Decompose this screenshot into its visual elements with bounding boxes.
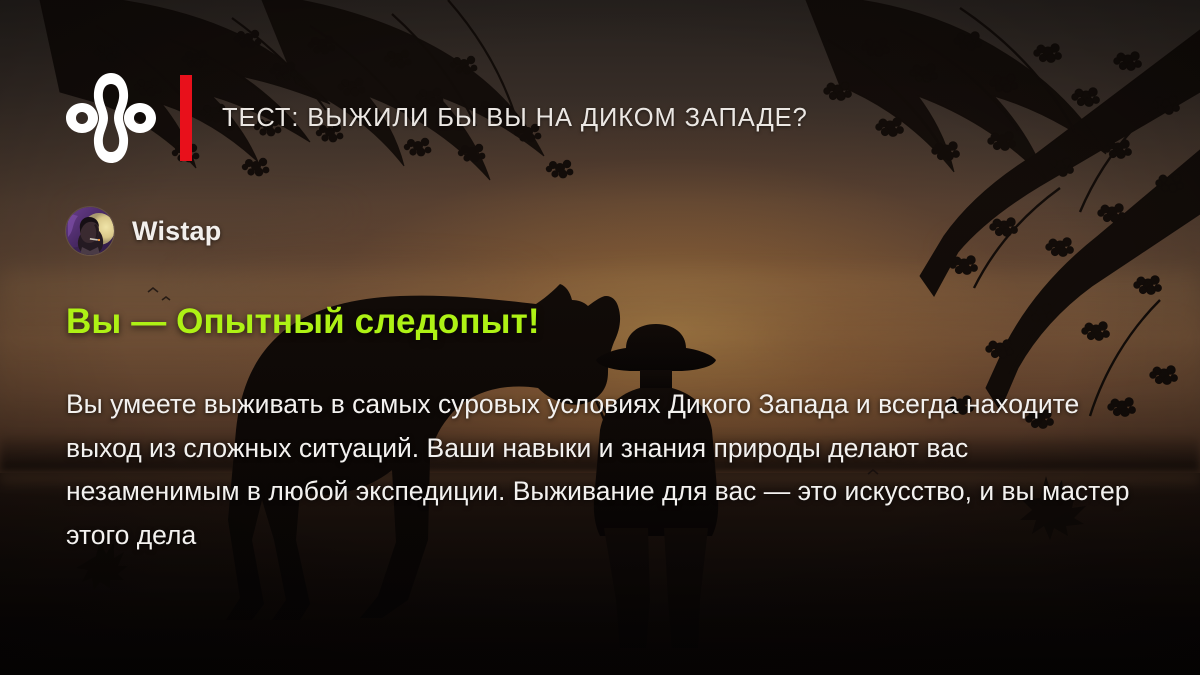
result-description-text: Вы умеете выживать в самых суровых услов… xyxy=(66,383,1138,557)
screenshot-root: ТЕСТ: ВЫЖИЛИ БЫ ВЫ НА ДИКОМ ЗАПАДЕ? xyxy=(0,0,1200,675)
dzen-logo-icon[interactable] xyxy=(66,72,156,164)
header: ТЕСТ: ВЫЖИЛИ БЫ ВЫ НА ДИКОМ ЗАПАДЕ? xyxy=(66,72,808,164)
channel-byline[interactable]: Wistap xyxy=(66,207,221,255)
header-divider xyxy=(180,75,192,161)
content-overlay: ТЕСТ: ВЫЖИЛИ БЫ ВЫ НА ДИКОМ ЗАПАДЕ? xyxy=(0,0,1200,675)
channel-name[interactable]: Wistap xyxy=(132,216,221,247)
channel-avatar-cowboy-icon xyxy=(66,207,114,255)
result-heading: Вы — Опытный следопыт! xyxy=(66,302,540,342)
page-title: ТЕСТ: ВЫЖИЛИ БЫ ВЫ НА ДИКОМ ЗАПАДЕ? xyxy=(222,104,808,133)
result-description: Вы умеете выживать в самых суровых услов… xyxy=(66,383,1138,557)
avatar[interactable] xyxy=(66,207,114,255)
